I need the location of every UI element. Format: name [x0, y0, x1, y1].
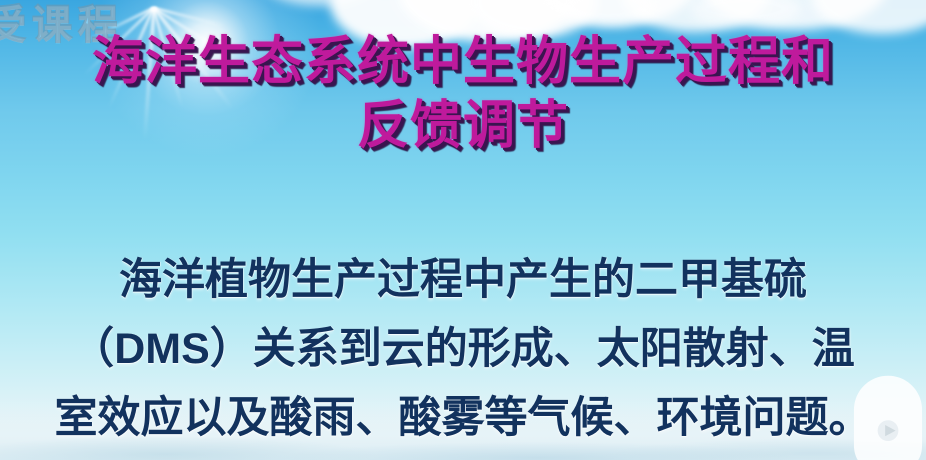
title-line-1: 海洋生态系统中生物生产过程和	[0, 30, 926, 94]
body-line-3: 室效应以及酸雨、酸雾等气候、环境问题。	[0, 384, 926, 453]
cloud-shape	[812, 0, 926, 34]
title-line-2: 反馈调节	[0, 94, 926, 158]
cloud-shape	[560, 0, 656, 26]
slide-body: 海洋植物生产过程中产生的二甲基硫 （DMS）关系到云的形成、太阳散射、温 室效应…	[0, 246, 926, 453]
cloud-shape	[620, 0, 770, 32]
cloud-shape	[690, 0, 800, 28]
cloud-shape	[700, 0, 890, 30]
sun-ray	[153, 7, 226, 28]
presentation-slide: 受课程 海洋生态系统中生物生产过程和 反馈调节 海洋植物生产过程中产生的二甲基硫…	[0, 0, 926, 460]
play-button-logo-icon	[840, 372, 926, 460]
body-line-1: 海洋植物生产过程中产生的二甲基硫	[0, 246, 926, 315]
body-line-2: （DMS）关系到云的形成、太阳散射、温	[0, 315, 926, 384]
cloud-shape	[530, 0, 700, 26]
slide-title: 海洋生态系统中生物生产过程和 反馈调节	[0, 30, 926, 158]
cloud-shape	[250, 0, 390, 6]
